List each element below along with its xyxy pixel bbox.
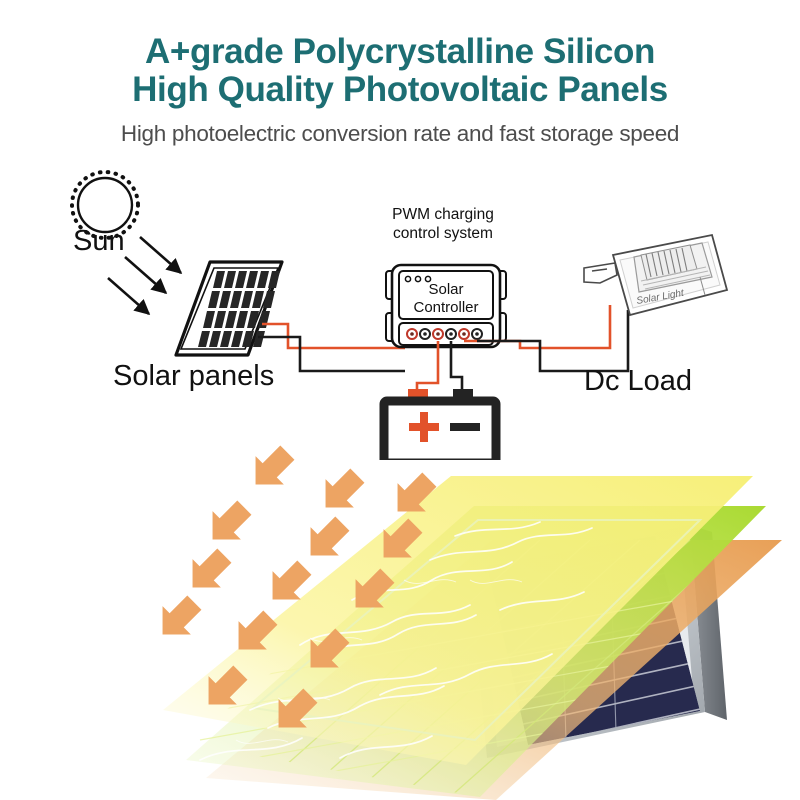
dc-load-label: Dc Load [584,365,692,398]
dc-load-floodlight: Solar Light [584,235,727,315]
controller-name-line-1: Solar [428,281,463,298]
solar-panel-graphic [176,262,282,355]
pwm-caption: PWM charging control system [373,205,513,243]
controller-name-line-2: Controller [413,299,478,316]
title-line-2: High Quality Photovoltaic Panels [0,71,800,109]
controller-name: Solar Controller [399,281,493,317]
page-title: A+grade Polycrystalline Silicon High Qua… [0,0,800,109]
pwm-caption-line-2: control system [393,225,493,242]
page-subtitle: High photoelectric conversion rate and f… [0,121,800,147]
sun-label: Sun [73,225,125,258]
header: A+grade Polycrystalline Silicon High Qua… [0,0,800,147]
title-line-1: A+grade Polycrystalline Silicon [0,33,800,71]
solar-panels-label: Solar panels [113,360,274,393]
pwm-caption-line-1: PWM charging [392,206,494,223]
exploded-panel-illustration [0,440,800,800]
wire-panel-to-controller [258,324,405,371]
infographic-page: A+grade Polycrystalline Silicon High Qua… [0,0,800,800]
system-wiring-diagram: Solar Light Sun Solar panels Dc Load PWM… [0,165,800,460]
